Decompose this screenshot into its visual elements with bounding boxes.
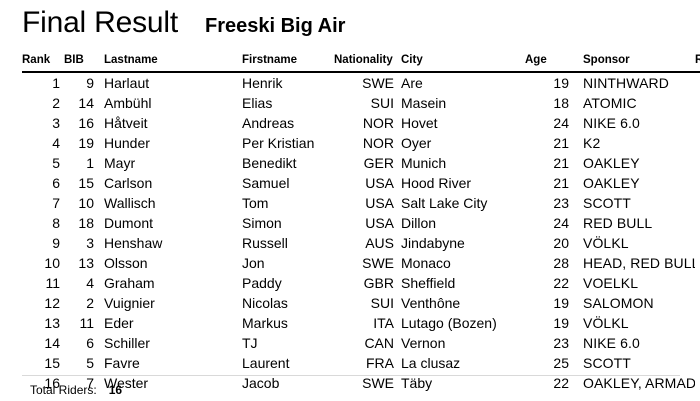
- cell-bib: 11: [60, 313, 94, 333]
- cell-age: 22: [519, 373, 569, 393]
- cell-rank: 5: [22, 153, 60, 173]
- table-header-row: Rank BIB Lastname Firstname Nationality …: [22, 52, 700, 72]
- cell-nationality: CAN: [334, 333, 394, 353]
- cell-round: Q: [695, 293, 700, 313]
- cell-rank: 13: [22, 313, 60, 333]
- cell-firstname: Henrik: [242, 72, 334, 93]
- table-row[interactable]: 214AmbühlEliasSUIMasein18ATOMICF91.00: [22, 93, 700, 113]
- cell-age: 18: [519, 93, 569, 113]
- cell-sponsor: VÖLKL: [569, 313, 695, 333]
- table-row[interactable]: 316HåtveitAndreasNORHovet24NIKE 6.0F68.0…: [22, 113, 700, 133]
- cell-bib: 16: [60, 113, 94, 133]
- cell-rank: 15: [22, 353, 60, 373]
- cell-sponsor: OAKLEY, ARMADA: [569, 373, 695, 393]
- cell-round: Q: [695, 233, 700, 253]
- cell-sponsor: NIKE 6.0: [569, 333, 695, 353]
- cell-nationality: NOR: [334, 133, 394, 153]
- cell-round: F: [695, 72, 700, 93]
- column-header-age[interactable]: Age: [519, 52, 569, 72]
- cell-lastname: Graham: [94, 273, 242, 293]
- cell-round: Q: [695, 353, 700, 373]
- cell-sponsor: SALOMON: [569, 293, 695, 313]
- cell-nationality: GER: [334, 153, 394, 173]
- table-row[interactable]: 114GrahamPaddyGBRSheffield22VOELKLQ148.5…: [22, 273, 700, 293]
- cell-age: 28: [519, 253, 569, 273]
- cell-firstname: Paddy: [242, 273, 334, 293]
- cell-nationality: USA: [334, 213, 394, 233]
- cell-firstname: Per Kristian: [242, 133, 334, 153]
- table-row[interactable]: 93HenshawRussellAUSJindabyne20VÖLKLQ152.…: [22, 233, 700, 253]
- cell-city: Venthône: [394, 293, 519, 313]
- cell-firstname: Andreas: [242, 113, 334, 133]
- cell-rank: 6: [22, 173, 60, 193]
- result-sheet: Final Result Freeski Big Air Rank BIB La…: [0, 0, 700, 401]
- cell-nationality: USA: [334, 193, 394, 213]
- cell-age: 21: [519, 173, 569, 193]
- cell-sponsor: ATOMIC: [569, 93, 695, 113]
- column-header-city[interactable]: City: [394, 52, 519, 72]
- table-row[interactable]: 1311EderMarkusITALutago (Bozen)19VÖLKLQ1…: [22, 313, 700, 333]
- table-row[interactable]: 19HarlautHenrikSWEAre19NINTHWARDF93.00: [22, 72, 700, 93]
- cell-age: 19: [519, 72, 569, 93]
- cell-lastname: Henshaw: [94, 233, 242, 253]
- cell-city: Hovet: [394, 113, 519, 133]
- table-row[interactable]: 615CarlsonSamuelUSAHood River21OAKLEYS16…: [22, 173, 700, 193]
- cell-firstname: Laurent: [242, 353, 334, 373]
- cell-round: Q: [695, 313, 700, 333]
- table-row[interactable]: 1013OlssonJonSWEMonaco28HEAD, RED BULLQ1…: [22, 253, 700, 273]
- cell-age: 22: [519, 273, 569, 293]
- cell-round: Q: [695, 333, 700, 353]
- cell-bib: 14: [60, 93, 94, 113]
- cell-lastname: Hunder: [94, 133, 242, 153]
- cell-age: 23: [519, 333, 569, 353]
- cell-lastname: Wallisch: [94, 193, 242, 213]
- cell-firstname: Markus: [242, 313, 334, 333]
- cell-bib: 13: [60, 253, 94, 273]
- cell-bib: 2: [60, 293, 94, 313]
- cell-sponsor: VÖLKL: [569, 233, 695, 253]
- cell-city: Hood River: [394, 173, 519, 193]
- cell-bib: 19: [60, 133, 94, 153]
- cell-round: Q: [695, 373, 700, 393]
- cell-nationality: GBR: [334, 273, 394, 293]
- cell-round: S: [695, 153, 700, 173]
- event-name: Freeski Big Air: [205, 16, 345, 36]
- cell-rank: 12: [22, 293, 60, 313]
- cell-lastname: Favre: [94, 353, 242, 373]
- cell-round: Q: [695, 253, 700, 273]
- cell-round: F: [695, 113, 700, 133]
- cell-lastname: Eder: [94, 313, 242, 333]
- results-table: Rank BIB Lastname Firstname Nationality …: [22, 52, 700, 393]
- cell-age: 24: [519, 113, 569, 133]
- cell-bib: 10: [60, 193, 94, 213]
- results-table-container: Rank BIB Lastname Firstname Nationality …: [22, 52, 680, 393]
- cell-rank: 2: [22, 93, 60, 113]
- cell-lastname: Vuignier: [94, 293, 242, 313]
- cell-city: Vernon: [394, 333, 519, 353]
- page-header: Final Result Freeski Big Air: [22, 8, 345, 38]
- cell-nationality: ITA: [334, 313, 394, 333]
- cell-lastname: Harlaut: [94, 72, 242, 93]
- cell-round: S: [695, 193, 700, 213]
- cell-firstname: Tom: [242, 193, 334, 213]
- cell-nationality: SUI: [334, 93, 394, 113]
- cell-sponsor: NIKE 6.0: [569, 113, 695, 133]
- cell-rank: 11: [22, 273, 60, 293]
- cell-age: 25: [519, 353, 569, 373]
- cell-nationality: NOR: [334, 113, 394, 133]
- table-row[interactable]: 51MayrBenediktGERMunich21OAKLEYS176.00: [22, 153, 700, 173]
- cell-city: Lutago (Bozen): [394, 313, 519, 333]
- cell-nationality: SWE: [334, 253, 394, 273]
- table-row[interactable]: 122VuignierNicolasSUIVenthône19SALOMONQ1…: [22, 293, 700, 313]
- table-header: Rank BIB Lastname Firstname Nationality …: [22, 52, 700, 72]
- total-riders-value: 16: [109, 383, 122, 397]
- column-header-round[interactable]: Round: [695, 52, 700, 72]
- cell-city: Täby: [394, 373, 519, 393]
- cell-round: Q: [695, 273, 700, 293]
- table-row[interactable]: 146SchillerTJCANVernon23NIKE 6.0Q101.75: [22, 333, 700, 353]
- cell-firstname: Samuel: [242, 173, 334, 193]
- cell-lastname: Mayr: [94, 153, 242, 173]
- cell-age: 19: [519, 293, 569, 313]
- table-row[interactable]: 419HunderPer KristianNOROyer21K2F18.00: [22, 133, 700, 153]
- cell-age: 21: [519, 153, 569, 173]
- cell-sponsor: K2: [569, 133, 695, 153]
- cell-nationality: SUI: [334, 293, 394, 313]
- cell-bib: 4: [60, 273, 94, 293]
- footer: Total Riders: 16: [30, 383, 122, 397]
- cell-city: Masein: [394, 93, 519, 113]
- page-title: Final Result: [22, 8, 178, 38]
- cell-city: Dillon: [394, 213, 519, 233]
- cell-bib: 15: [60, 173, 94, 193]
- cell-lastname: Schiller: [94, 333, 242, 353]
- cell-city: Jindabyne: [394, 233, 519, 253]
- cell-age: 20: [519, 233, 569, 253]
- cell-age: 24: [519, 213, 569, 233]
- cell-firstname: TJ: [242, 333, 334, 353]
- table-row[interactable]: 818DumontSimonUSADillon24RED BULLS149.75: [22, 213, 700, 233]
- cell-lastname: Håtveit: [94, 113, 242, 133]
- cell-city: Are: [394, 72, 519, 93]
- cell-firstname: Jon: [242, 253, 334, 273]
- cell-sponsor: SCOTT: [569, 193, 695, 213]
- cell-city: Monaco: [394, 253, 519, 273]
- cell-bib: 18: [60, 213, 94, 233]
- cell-nationality: SWE: [334, 373, 394, 393]
- cell-nationality: USA: [334, 173, 394, 193]
- table-row[interactable]: 710WallischTomUSASalt Lake City23SCOTTS1…: [22, 193, 700, 213]
- cell-rank: 1: [22, 72, 60, 93]
- cell-firstname: Benedikt: [242, 153, 334, 173]
- cell-firstname: Nicolas: [242, 293, 334, 313]
- total-riders-label: Total Riders:: [30, 383, 97, 397]
- cell-city: Salt Lake City: [394, 193, 519, 213]
- cell-bib: 3: [60, 233, 94, 253]
- cell-lastname: Dumont: [94, 213, 242, 233]
- cell-rank: 14: [22, 333, 60, 353]
- cell-bib: 9: [60, 72, 94, 93]
- column-header-firstname[interactable]: Firstname: [242, 52, 334, 72]
- cell-city: Munich: [394, 153, 519, 173]
- cell-sponsor: HEAD, RED BULL: [569, 253, 695, 273]
- cell-rank: 7: [22, 193, 60, 213]
- cell-firstname: Russell: [242, 233, 334, 253]
- cell-nationality: FRA: [334, 353, 394, 373]
- cell-round: S: [695, 213, 700, 233]
- cell-rank: 8: [22, 213, 60, 233]
- cell-nationality: SWE: [334, 72, 394, 93]
- cell-firstname: Simon: [242, 213, 334, 233]
- column-header-rank[interactable]: Rank: [22, 52, 60, 72]
- cell-firstname: Jacob: [242, 373, 334, 393]
- cell-sponsor: VOELKL: [569, 273, 695, 293]
- column-header-bib[interactable]: BIB: [60, 52, 94, 72]
- cell-bib: 1: [60, 153, 94, 173]
- cell-city: Sheffield: [394, 273, 519, 293]
- cell-round: F: [695, 93, 700, 113]
- cell-sponsor: OAKLEY: [569, 173, 695, 193]
- cell-lastname: Ambühl: [94, 93, 242, 113]
- cell-round: S: [695, 173, 700, 193]
- cell-lastname: Olsson: [94, 253, 242, 273]
- cell-age: 23: [519, 193, 569, 213]
- cell-sponsor: SCOTT: [569, 353, 695, 373]
- cell-bib: 5: [60, 353, 94, 373]
- cell-rank: 10: [22, 253, 60, 273]
- cell-sponsor: OAKLEY: [569, 153, 695, 173]
- column-header-sponsor[interactable]: Sponsor: [569, 52, 695, 72]
- table-body: 19HarlautHenrikSWEAre19NINTHWARDF93.0021…: [22, 72, 700, 393]
- cell-age: 19: [519, 313, 569, 333]
- cell-lastname: Carlson: [94, 173, 242, 193]
- cell-round: F: [695, 133, 700, 153]
- column-header-nationality[interactable]: Nationality: [334, 52, 394, 72]
- cell-rank: 3: [22, 113, 60, 133]
- cell-city: La clusaz: [394, 353, 519, 373]
- cell-bib: 6: [60, 333, 94, 353]
- cell-rank: 9: [22, 233, 60, 253]
- cell-sponsor: RED BULL: [569, 213, 695, 233]
- table-row[interactable]: 155FavreLaurentFRALa clusaz25SCOTTQ56.00: [22, 353, 700, 373]
- footer-divider: [22, 375, 680, 376]
- cell-sponsor: NINTHWARD: [569, 72, 695, 93]
- cell-firstname: Elias: [242, 93, 334, 113]
- column-header-lastname[interactable]: Lastname: [94, 52, 242, 72]
- table-row[interactable]: 167WesterJacobSWETäby22OAKLEY, ARMADAQ55…: [22, 373, 700, 393]
- cell-rank: 4: [22, 133, 60, 153]
- cell-city: Oyer: [394, 133, 519, 153]
- cell-age: 21: [519, 133, 569, 153]
- cell-nationality: AUS: [334, 233, 394, 253]
